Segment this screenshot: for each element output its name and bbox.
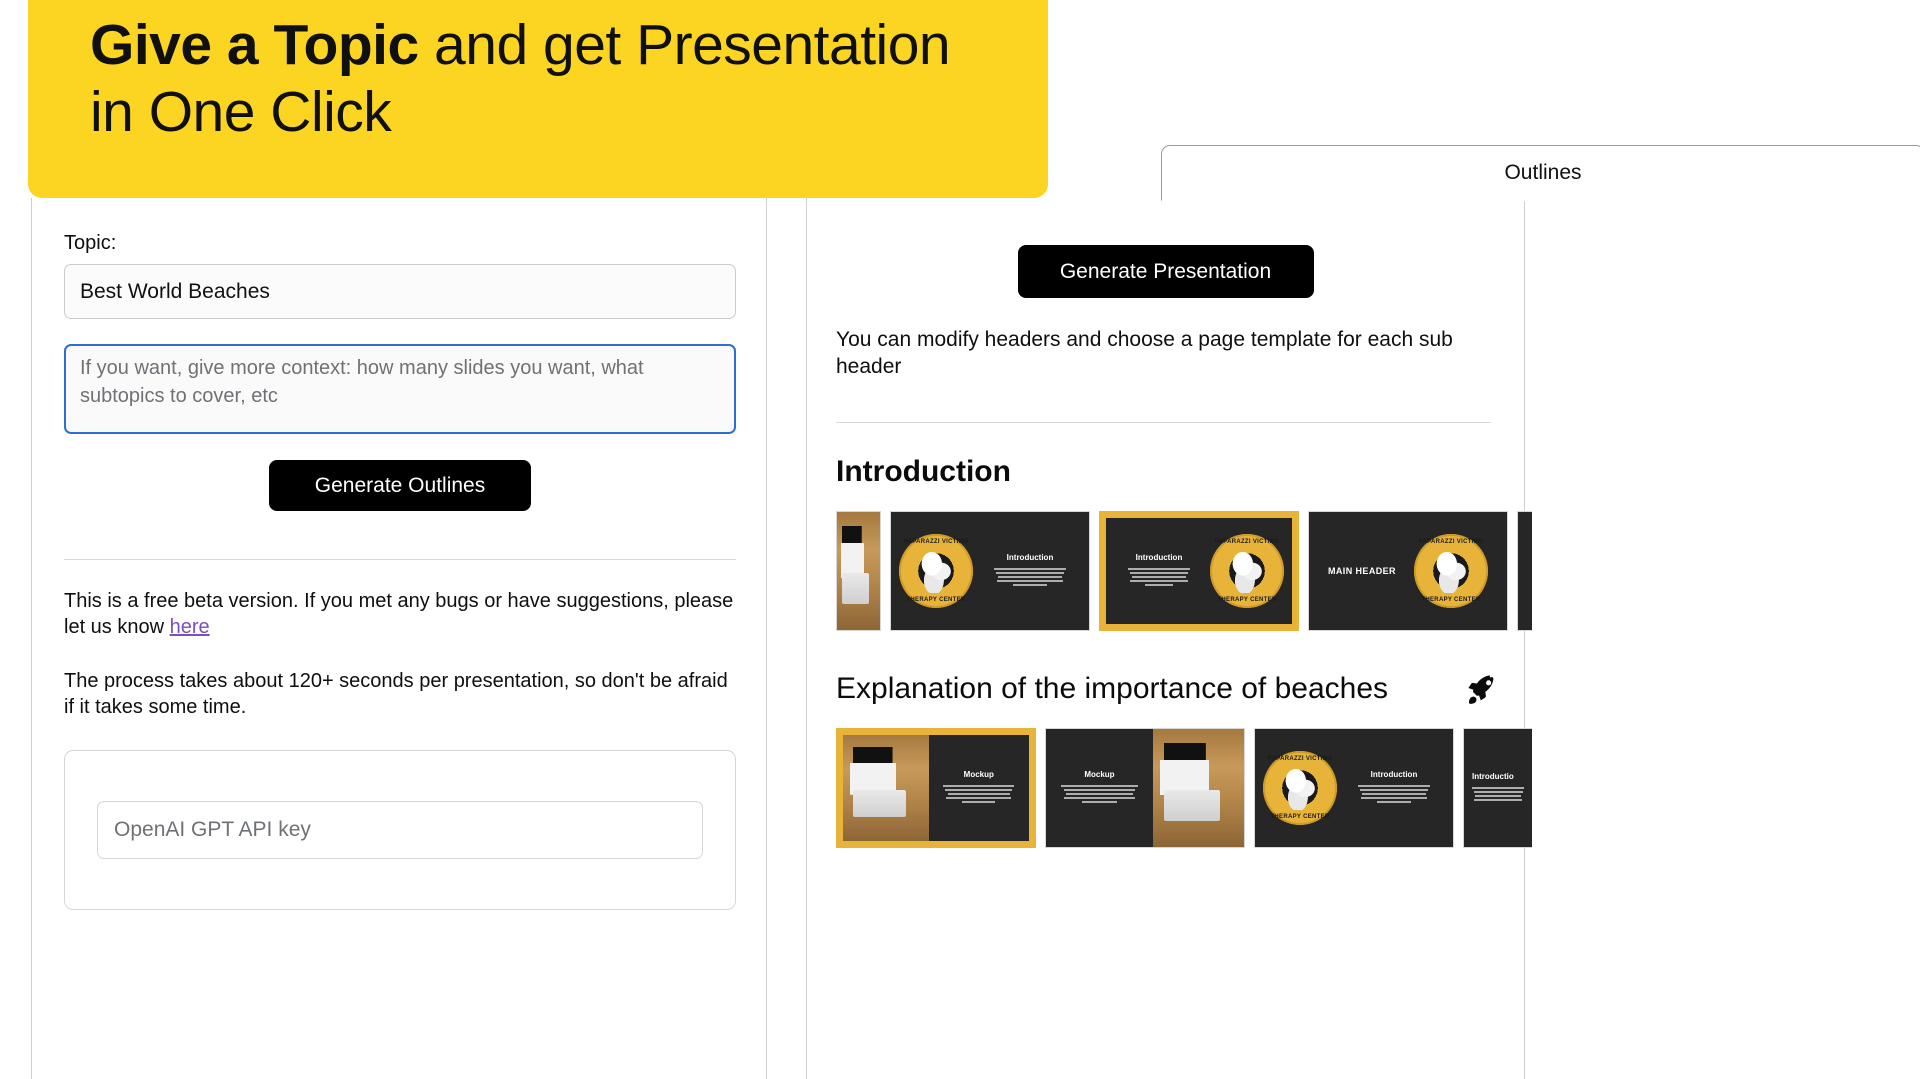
slide-thumbnail-selected[interactable]: Mockup [836, 728, 1036, 848]
generate-presentation-button[interactable]: Generate Presentation [1018, 245, 1314, 298]
rocket-icon[interactable] [1466, 672, 1500, 706]
beta-notice: This is a free beta version. If you met … [64, 589, 736, 640]
section-row-explanation: Explanation of the importance of beaches [836, 672, 1516, 706]
page-title: Give a Topic and get Presentationin One … [90, 12, 1014, 147]
page-title-line2: in One Click [90, 80, 391, 144]
thumbnail-row-introduction[interactable]: PAPARAZZI VICTIMS THERAPY CENTER Introdu… [836, 511, 1532, 631]
generate-outlines-row: Generate Outlines [64, 460, 736, 511]
tab-bar: Outlines [1161, 145, 1920, 201]
beta-notice-text: This is a free beta version. If you met … [64, 590, 733, 638]
logo-ring-bottom: THERAPY CENTER [899, 597, 973, 603]
hero-banner: Give a Topic and get Presentationin One … [28, 0, 1048, 198]
outlines-content: You can modify headers and choose a page… [807, 326, 1524, 848]
panel-divider-right [1524, 198, 1525, 1079]
generate-presentation-row: Generate Presentation [807, 198, 1524, 298]
panel-divider-mid-1 [766, 198, 767, 1079]
thumb-body-lines [1061, 783, 1137, 805]
topic-label: Topic: [64, 232, 766, 255]
generate-outlines-button[interactable]: Generate Outlines [269, 460, 531, 511]
slide-thumbnail[interactable]: MAIN HEADER PAPARAZZI VICTIMS THERAPY CE… [1308, 511, 1508, 631]
form-panel: Topic: Generate Outlines This is a free … [32, 200, 766, 1079]
thumb-label: Introduction [1136, 553, 1183, 562]
page-title-rest: and get Presentation [419, 13, 950, 77]
section-title-explanation[interactable]: Explanation of the importance of beaches [836, 672, 1388, 706]
paparazzi-logo-icon: PAPARAZZI VICTIMS THERAPY CENTER [1263, 751, 1337, 825]
paparazzi-logo-icon: PAPARAZZI VICTIMS THERAPY CENTER [1210, 534, 1284, 608]
section-title-introduction[interactable]: Introduction [836, 455, 1524, 489]
thumb-body-lines [943, 783, 1014, 805]
slide-thumbnail[interactable]: PAPARAZZI VICTIMS THERAPY CENTER Introdu… [1254, 728, 1454, 848]
topic-input[interactable] [64, 264, 736, 319]
outlines-hint: You can modify headers and choose a page… [836, 326, 1491, 381]
thumb-label: Mockup [1084, 770, 1114, 779]
thumb-label: Introductio [1472, 772, 1514, 781]
tab-outlines[interactable]: Outlines [1161, 145, 1920, 201]
slide-thumbnail[interactable]: Mockup [1045, 728, 1245, 848]
outlines-panel: Generate Presentation You can modify hea… [807, 198, 1524, 1079]
logo-ring-top: PAPARAZZI VICTIMS [1210, 539, 1284, 545]
outlines-divider [836, 422, 1491, 423]
slide-thumbnail[interactable]: PAPARAZZI VICTIMS THERAPY CENTER Introdu… [890, 511, 1090, 631]
slide-thumbnail[interactable] [836, 511, 881, 631]
process-notice: The process takes about 120+ seconds per… [64, 669, 736, 720]
thumb-label: Introduction [1007, 553, 1054, 562]
slide-thumbnail[interactable]: Introductio [1463, 728, 1532, 848]
thumb-label: Introduction [1371, 770, 1418, 779]
page-title-strong: Give a Topic [90, 13, 419, 77]
thumb-body-lines [1472, 785, 1524, 803]
thumb-body-lines [1128, 566, 1190, 588]
api-key-input[interactable] [97, 801, 703, 859]
logo-ring-bottom: THERAPY CENTER [1210, 597, 1284, 603]
paparazzi-logo-icon: PAPARAZZI VICTIMS THERAPY CENTER [899, 534, 973, 608]
slide-thumbnail[interactable] [1517, 511, 1532, 631]
slide-thumbnail-selected[interactable]: PAPARAZZI VICTIMS THERAPY CENTER Introdu… [1099, 511, 1299, 631]
logo-ring-top: PAPARAZZI VICTIMS [1414, 539, 1488, 545]
thumb-body-lines [994, 566, 1066, 588]
context-textarea[interactable] [64, 344, 736, 434]
thumb-label: Mockup [964, 770, 994, 779]
left-divider [64, 559, 736, 560]
logo-ring-top: PAPARAZZI VICTIMS [899, 539, 973, 545]
app-root: Give a Topic and get Presentationin One … [0, 0, 1920, 1079]
thumb-body-lines [1358, 783, 1430, 805]
thumbnail-row-explanation[interactable]: Mockup Mockup [836, 728, 1532, 848]
logo-ring-bottom: THERAPY CENTER [1263, 814, 1337, 820]
logo-ring-bottom: THERAPY CENTER [1414, 597, 1488, 603]
thumb-label: MAIN HEADER [1328, 565, 1396, 577]
logo-ring-top: PAPARAZZI VICTIMS [1263, 756, 1337, 762]
api-key-box [64, 750, 736, 910]
feedback-link[interactable]: here [170, 616, 210, 638]
paparazzi-logo-icon: PAPARAZZI VICTIMS THERAPY CENTER [1414, 534, 1488, 608]
